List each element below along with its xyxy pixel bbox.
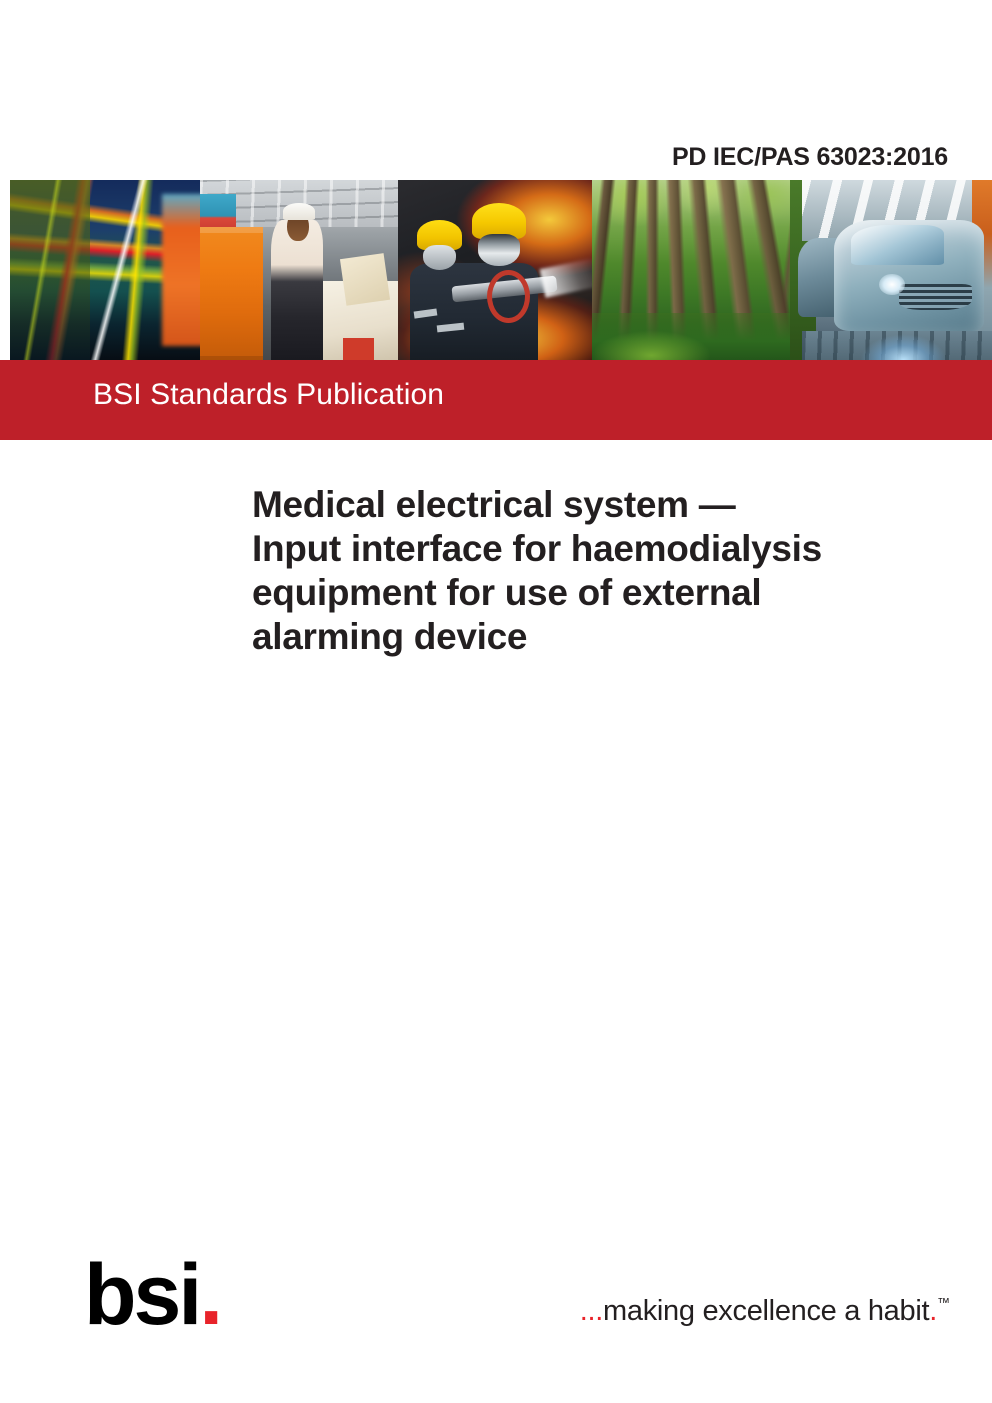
- forest-floor: [592, 313, 790, 360]
- warehouse-box-held: [340, 253, 390, 305]
- title-line-2: Input interface for haemodialysis: [252, 527, 952, 571]
- document-number: PD IEC/PAS 63023:2016: [0, 143, 948, 172]
- title-line-1: Medical electrical system —: [252, 483, 952, 527]
- car-windshield: [851, 225, 944, 265]
- page-title: Medical electrical system — Input interf…: [252, 483, 952, 659]
- trademark-icon: ™: [937, 1295, 950, 1310]
- warehouse-worker-cap: [283, 203, 315, 219]
- cover-photo-strip: [10, 180, 992, 360]
- tagline-leading-dots: ...: [580, 1295, 603, 1327]
- bsi-tagline: ...making excellence a habit.™: [0, 1295, 950, 1328]
- title-line-3: equipment for use of external: [252, 571, 952, 615]
- title-line-4: alarming device: [252, 615, 952, 659]
- photo-panel-warehouse-worker: [200, 180, 398, 360]
- tagline-text: making excellence a habit: [603, 1295, 929, 1327]
- firefighter-front-mask: [478, 234, 521, 266]
- tagline-red-period: .: [929, 1295, 937, 1327]
- banner-label: BSI Standards Publication: [93, 378, 444, 412]
- photo-panel-firefighters: [398, 180, 592, 360]
- car-grille: [899, 284, 972, 309]
- hose-valve-wheel: [487, 270, 530, 323]
- photo-panel-forest: [592, 180, 790, 360]
- firefighter-rear-mask: [423, 245, 456, 270]
- warehouse-orange-crates: [200, 227, 263, 360]
- water-spray: [539, 257, 592, 297]
- photo-panel-night-traffic-light-trails: [10, 180, 200, 360]
- warehouse-red-bin: [343, 338, 375, 360]
- car-underglow-light: [859, 320, 948, 360]
- car-headlight: [879, 274, 905, 296]
- photo-panel-car-assembly-line: [790, 180, 992, 360]
